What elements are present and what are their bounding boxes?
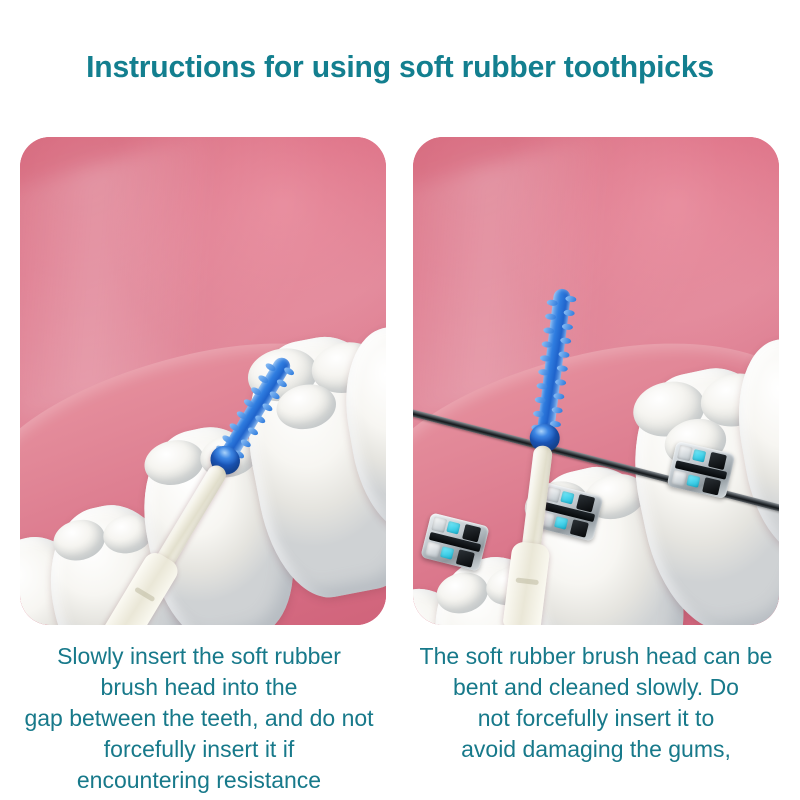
caption-line: forcefully insert it if <box>10 734 388 765</box>
dental-model-illustration-normal <box>20 137 386 625</box>
caption-line: The soft rubber brush head can be <box>407 641 785 672</box>
caption-line: brush head into the <box>10 672 388 703</box>
caption-line: bent and cleaned slowly. Do <box>407 672 785 703</box>
dental-model-illustration-braces <box>413 137 779 625</box>
caption-line: encountering resistance <box>10 765 388 796</box>
caption-line: gap between the teeth, and do not <box>10 703 388 734</box>
panel-normal-teeth <box>20 137 386 625</box>
caption-braces-teeth: The soft rubber brush head can be bent a… <box>407 641 785 765</box>
panel-braces-teeth <box>413 137 779 625</box>
instruction-page: Instructions for using soft rubber tooth… <box>0 0 800 800</box>
caption-line: avoid damaging the gums, <box>407 734 785 765</box>
caption-line: Slowly insert the soft rubber <box>10 641 388 672</box>
page-title: Instructions for using soft rubber tooth… <box>12 48 788 86</box>
caption-line: not forcefully insert it to <box>407 703 785 734</box>
caption-normal-teeth: Slowly insert the soft rubber brush head… <box>10 641 388 796</box>
